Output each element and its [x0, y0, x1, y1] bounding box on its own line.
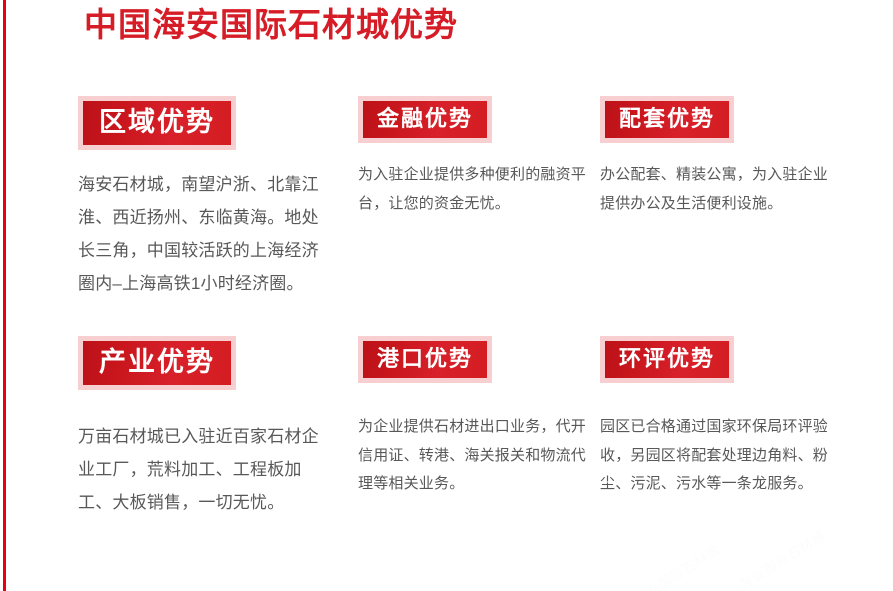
advantage-card-region: 区域优势 海安石材城，南望沪浙、北靠江淮、西近扬州、东临黄海。地处长三角，中国较…	[78, 96, 323, 300]
badge-region-label: 区域优势	[83, 101, 231, 145]
advantage-card-finance: 金融优势 为入驻企业提供多种便利的融资平台，让您的资金无忧。	[358, 96, 586, 218]
badge-industry: 产业优势	[78, 336, 236, 390]
badge-facility: 配套优势	[600, 96, 734, 143]
badge-region: 区域优势	[78, 96, 236, 150]
badge-environment: 环评优势	[600, 336, 734, 383]
advantage-port-text: 为企业提供石材进出口业务，代开信用证、转港、海关报关和物流代理等相关业务。	[358, 413, 586, 499]
advantage-region-text: 海安石材城，南望沪浙、北靠江淮、西近扬州、东临黄海。地处长三角，中国较活跃的上海…	[78, 168, 323, 300]
badge-facility-label: 配套优势	[605, 101, 729, 138]
advantages-row-2: 产业优势 万亩石材城已入驻近百家石材企业工厂，荒料加工、工程板加工、大板销售，一…	[0, 336, 893, 566]
page-title: 中国海安国际石材城优势	[84, 4, 458, 46]
advantage-card-port: 港口优势 为企业提供石材进出口业务，代开信用证、转港、海关报关和物流代理等相关业…	[358, 336, 586, 499]
badge-finance-label: 金融优势	[363, 101, 487, 138]
advantage-industry-text: 万亩石材城已入驻近百家石材企业工厂，荒料加工、工程板加工、大板销售，一切无忧。	[78, 420, 323, 519]
badge-finance: 金融优势	[358, 96, 492, 143]
advantage-card-environment: 环评优势 园区已合格通过国家环保局环评验收，另园区将配套处理边角料、粉尘、污泥、…	[600, 336, 828, 499]
advantage-finance-text: 为入驻企业提供多种便利的融资平台，让您的资金无忧。	[358, 161, 586, 218]
advantage-card-facility: 配套优势 办公配套、精装公寓，为入驻企业提供办公及生活便利设施。	[600, 96, 828, 218]
badge-environment-label: 环评优势	[605, 341, 729, 378]
badge-port: 港口优势	[358, 336, 492, 383]
advantages-row-1: 区域优势 海安石材城，南望沪浙、北靠江淮、西近扬州、东临黄海。地处长三角，中国较…	[0, 96, 893, 336]
badge-industry-label: 产业优势	[83, 341, 231, 385]
badge-port-label: 港口优势	[363, 341, 487, 378]
advantage-environment-text: 园区已合格通过国家环保局环评验收，另园区将配套处理边角料、粉尘、污泥、污水等一条…	[600, 413, 828, 499]
advantage-card-industry: 产业优势 万亩石材城已入驻近百家石材企业工厂，荒料加工、工程板加工、大板销售，一…	[78, 336, 323, 519]
advantage-facility-text: 办公配套、精装公寓，为入驻企业提供办公及生活便利设施。	[600, 161, 828, 218]
advantages-page: 中国海安国际石材城优势 区域优势 海安石材城，南望沪浙、北靠江淮、西近扬州、东临…	[0, 0, 893, 591]
advantages-grid: 区域优势 海安石材城，南望沪浙、北靠江淮、西近扬州、东临黄海。地处长三角，中国较…	[0, 96, 893, 566]
